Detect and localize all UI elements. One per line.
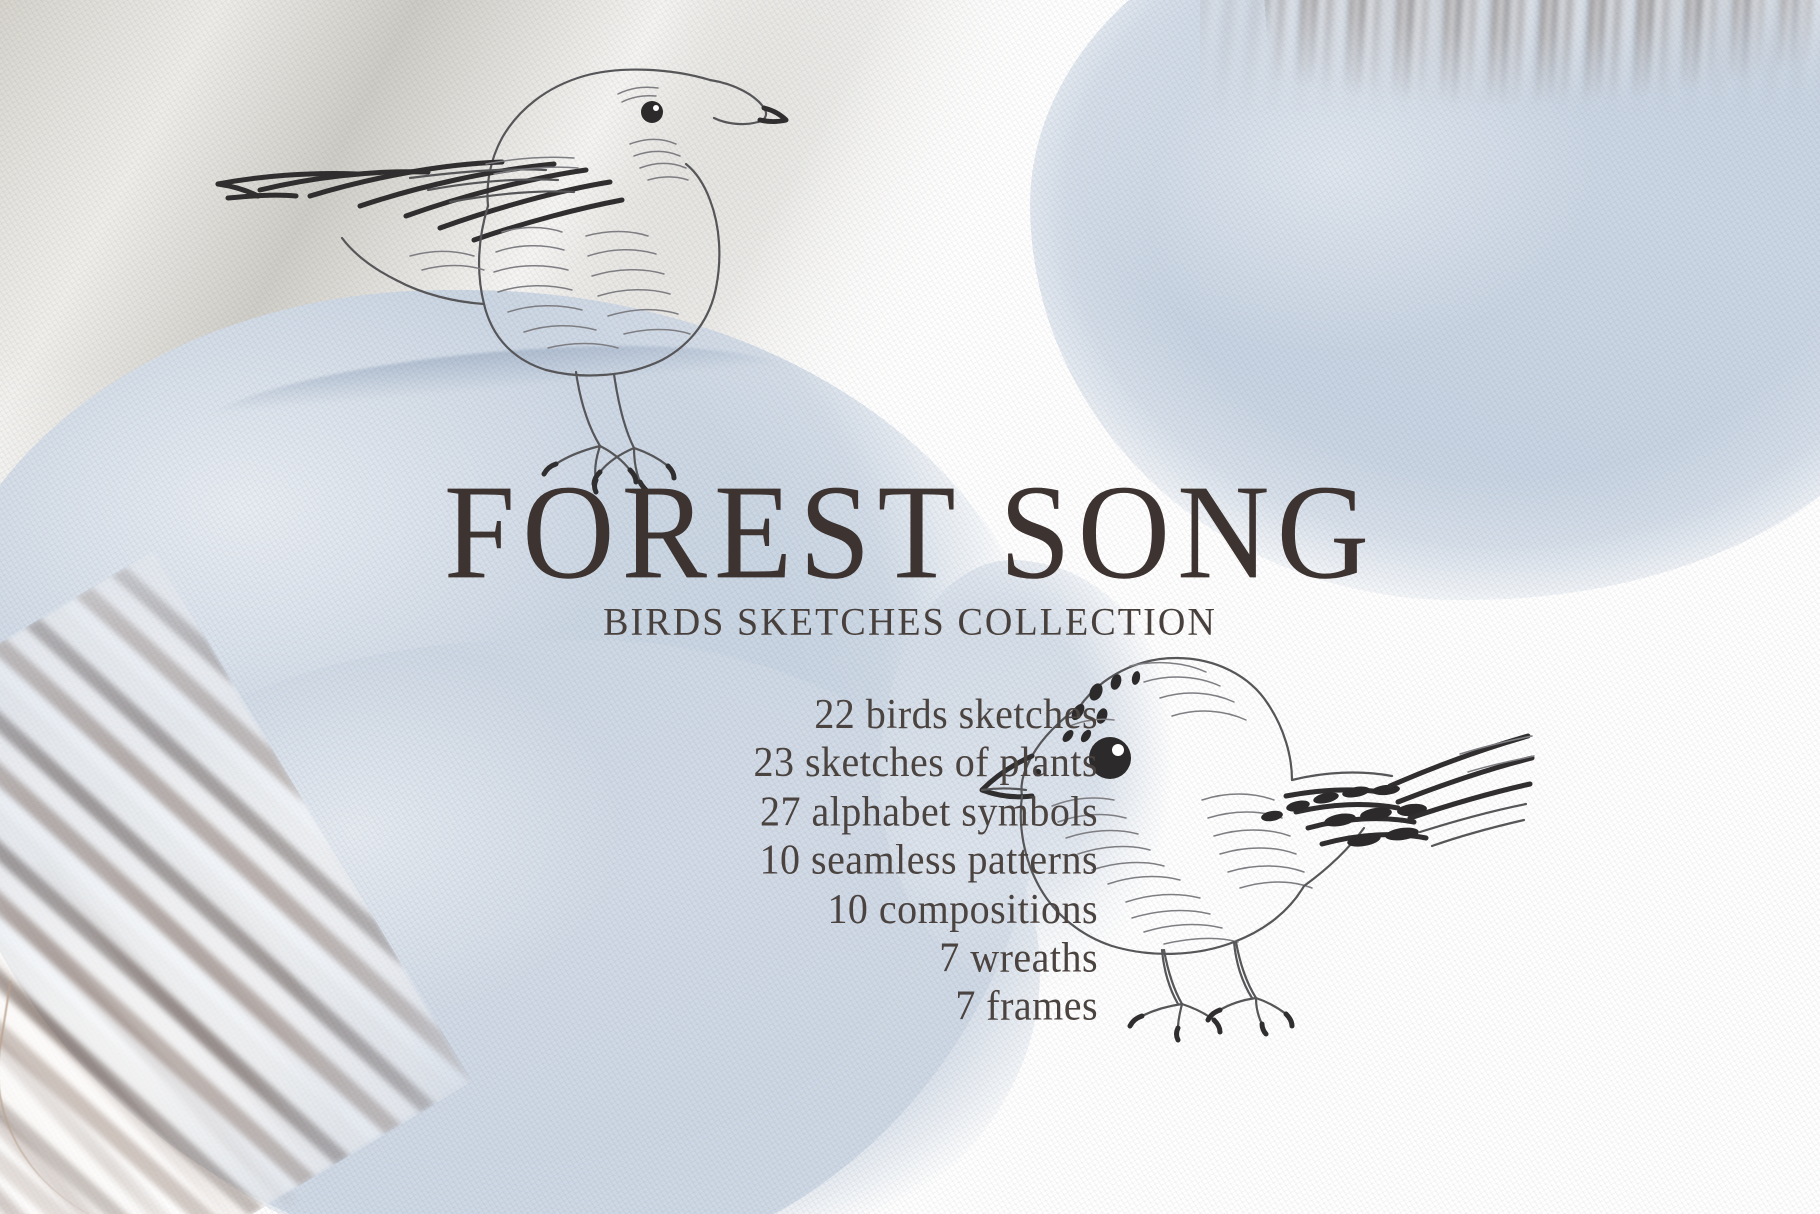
list-item: 27 alphabet symbols [0, 787, 1098, 836]
page-title: FOREST SONG [0, 464, 1820, 600]
list-item: 7 frames [0, 982, 1098, 1031]
list-item: 23 sketches of plants [0, 739, 1098, 788]
list-item: 22 birds sketches [0, 690, 1098, 739]
poster-canvas: FOREST SONG BIRDS SKETCHES COLLECTION 22… [0, 0, 1820, 1214]
list-item: 7 wreaths [0, 934, 1098, 983]
feature-list: 22 birds sketches 23 sketches of plants … [0, 690, 1098, 1031]
list-item: 10 compositions [0, 885, 1098, 934]
page-subtitle: BIRDS SKETCHES COLLECTION [0, 599, 1820, 645]
list-item: 10 seamless patterns [0, 836, 1098, 885]
typography-block: FOREST SONG BIRDS SKETCHES COLLECTION 22… [0, 0, 1820, 1214]
